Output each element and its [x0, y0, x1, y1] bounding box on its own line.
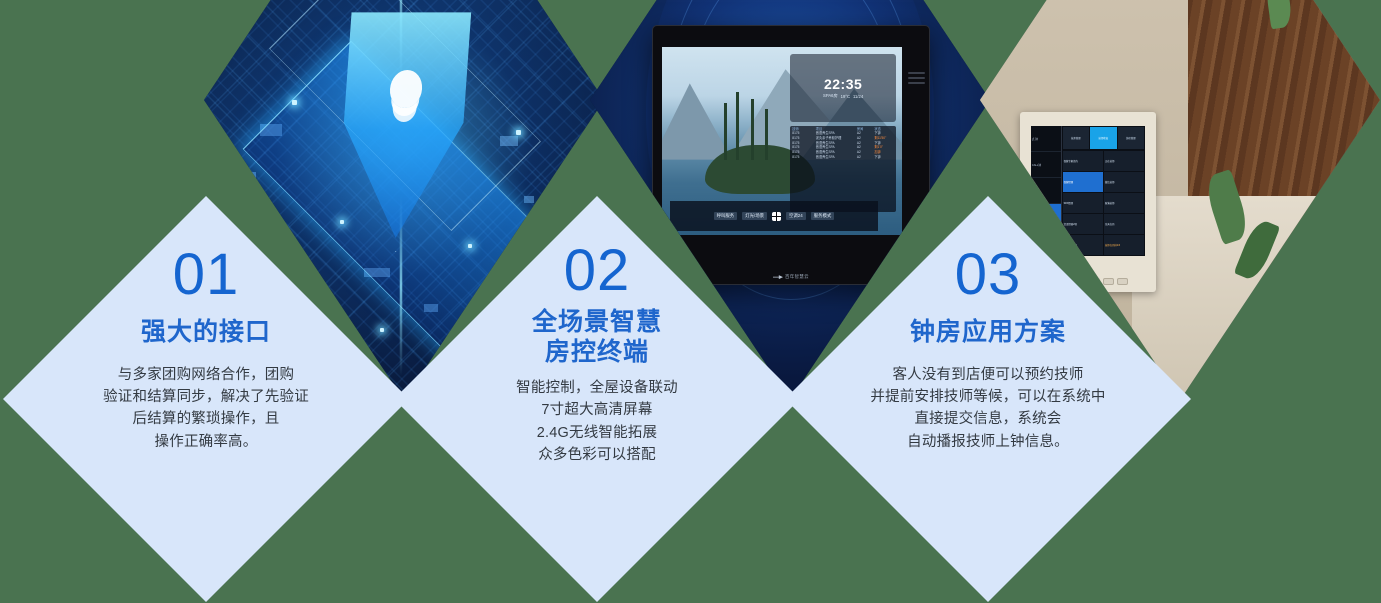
technician-list[interactable]: 技师 项目 房间 状态 8175 音语养生SPA A2 下钟 8175: [790, 126, 896, 213]
grid-item[interactable]: 微信技师: [1104, 172, 1144, 192]
desc-line: 直接提交信息，系统会: [870, 408, 1105, 430]
tab-tech-status[interactable]: 技师状态: [1090, 127, 1117, 148]
clock-subline: SPA6房 19°C 11/24: [823, 93, 863, 99]
temperature-value: 19°C: [841, 94, 850, 99]
card-number-02: 02: [564, 242, 631, 300]
panel-screen[interactable]: 点 钟 CALL钟 面 钟 换钟交班 选 钟 技师管理 技师状态 钟房管理: [1031, 126, 1145, 256]
clock-widget: 22:35 SPA6房 19°C 11/24: [790, 54, 896, 122]
spark: [516, 130, 521, 135]
chip-block: [524, 196, 534, 203]
desc-line: 客人没有到店便可以预约技师: [870, 364, 1105, 386]
panel-button[interactable]: [1103, 278, 1114, 285]
grid-item[interactable]: 客满技师: [1104, 193, 1144, 213]
spark: [340, 220, 344, 224]
menu-item-huanzhong[interactable]: 换钟交班: [1031, 204, 1061, 230]
desc-line: 众多色彩可以搭配: [516, 444, 678, 466]
grid-item[interactable]: SPA经理: [1063, 193, 1103, 213]
grid-item[interactable]: 保健专家首约: [1063, 151, 1103, 171]
grid-item[interactable]: 正在技师: [1104, 151, 1144, 171]
grid-item[interactable]: 音语经络2项: [1063, 214, 1103, 234]
tablet-side-vents: [908, 72, 925, 186]
date-value: 11/24: [853, 94, 863, 99]
tree: [765, 109, 768, 160]
panel-button[interactable]: [1089, 278, 1100, 285]
desc-line: 并提前安排技师等候，可以在系统中: [870, 386, 1105, 408]
spark: [292, 100, 297, 105]
bar-button-light-scene[interactable]: 灯光/场景: [742, 212, 767, 220]
desc-line: 7寸超大高清屏幕: [516, 399, 678, 421]
grid-item[interactable]: 技师在岗排2/3: [1104, 235, 1144, 255]
clock-time: 22:35: [824, 77, 862, 91]
desc-line: 与多家团购网络合作，团购: [103, 364, 309, 386]
panel-right-area[interactable]: 技师管理 技师状态 钟房管理 保健专家首约 正在技师 保健经理 微信技师 SPA…: [1062, 126, 1146, 256]
desc-line: 自动播报技师上钟信息。: [870, 431, 1105, 453]
chip-block: [244, 172, 256, 180]
desc-line: 后结算的繁琐操作，且: [103, 408, 309, 430]
cell-item: 音语养生SPA: [816, 155, 855, 160]
spark: [380, 328, 384, 332]
title-line: 全场景智慧: [532, 308, 662, 338]
tablet-bottom-bar[interactable]: 呼叫服务 灯光/场景 空调24 服务模式: [670, 201, 879, 231]
grid-item[interactable]: 全天在岗: [1104, 214, 1144, 234]
card-number-01: 01: [173, 246, 240, 304]
grid-item[interactable]: 保健经理: [1063, 172, 1103, 192]
card-title-02: 全场景智慧 房控终端: [532, 308, 662, 367]
grid-item[interactable]: 音语经络3项: [1063, 235, 1103, 255]
panel-button[interactable]: [1117, 278, 1128, 285]
desc-line: 操作正确率高。: [103, 431, 309, 453]
room-label: SPA6房: [823, 93, 838, 99]
bar-button-aircon[interactable]: 空调24: [786, 212, 806, 220]
menu-item-dian-zhong[interactable]: 点 钟: [1031, 126, 1061, 152]
tablet-brand: 百年智慧云: [653, 274, 929, 280]
tablet-device: 22:35 SPA6房 19°C 11/24 技师 项目 房间 状态: [652, 25, 930, 285]
card-desc-02: 智能控制，全屋设备联动 7寸超大高清屏幕 2.4G无线智能拓展 众多色彩可以搭配: [516, 377, 678, 467]
card-desc-03: 客人没有到店便可以预约技师 并提前安排技师等候，可以在系统中 直接提交信息，系统…: [870, 364, 1105, 454]
brand-name: 百年智慧云: [785, 274, 809, 280]
panel-tabs[interactable]: 技师管理 技师状态 钟房管理: [1062, 126, 1146, 149]
card-title-01: 强大的接口: [141, 318, 271, 348]
tab-room-manage[interactable]: 钟房管理: [1118, 127, 1145, 148]
tree: [751, 99, 754, 159]
tree: [724, 103, 727, 159]
bar-button-call-service[interactable]: 呼叫服务: [714, 212, 738, 220]
tree: [736, 92, 739, 160]
brand-logo-icon: [773, 275, 783, 279]
bar-button-service-mode[interactable]: 服务模式: [811, 212, 835, 220]
cell-room: A2: [857, 155, 873, 160]
panel-left-menu[interactable]: 点 钟 CALL钟 面 钟 换钟交班 选 钟: [1031, 126, 1062, 256]
menu-item-mian-zhong[interactable]: 面 钟: [1031, 178, 1061, 204]
card-desc-01: 与多家团购网络合作，团购 验证和结算同步，解决了先验证 后结算的繁琐操作，且 操…: [103, 364, 309, 454]
spark: [468, 244, 472, 248]
panel-grid[interactable]: 保健专家首约 正在技师 保健经理 微信技师 SPA经理 客满技师 音语经络2项 …: [1062, 150, 1146, 256]
promo-banner: 22:35 SPA6房 19°C 11/24 技师 项目 房间 状态: [0, 0, 1381, 603]
desc-line: 智能控制，全屋设备联动: [516, 377, 678, 399]
desc-line: 验证和结算同步，解决了先验证: [103, 386, 309, 408]
title-line: 房控终端: [532, 338, 662, 368]
tablet-screen[interactable]: 22:35 SPA6房 19°C 11/24 技师 项目 房间 状态: [662, 47, 902, 235]
card-title-03: 钟房应用方案: [910, 318, 1066, 348]
tab-tech-manage[interactable]: 技师管理: [1063, 127, 1090, 148]
table-row: 8175 音语养生SPA A2 下钟: [792, 155, 894, 160]
cell-status: 下钟: [874, 155, 894, 160]
desc-line: 2.4G无线智能拓展: [516, 422, 678, 444]
cell-tech: 8175: [792, 155, 813, 160]
panel-button[interactable]: [1075, 278, 1086, 285]
menu-item-call-zhong[interactable]: CALL钟: [1031, 152, 1061, 178]
apps-grid-icon[interactable]: [772, 212, 781, 221]
card-number-03: 03: [955, 246, 1022, 304]
